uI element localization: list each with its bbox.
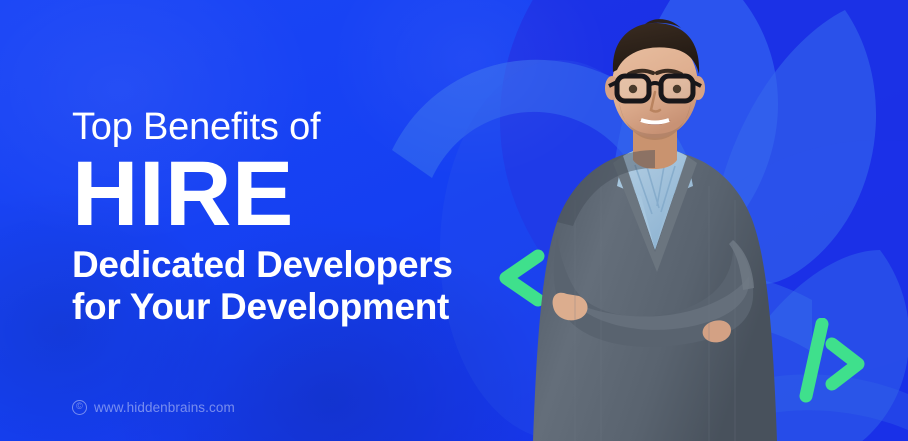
website-url: www.hiddenbrains.com [94, 400, 235, 415]
marketing-banner: Top Benefits of HIRE Dedicated Developer… [0, 0, 908, 441]
kicker-text: Top Benefits of [72, 108, 502, 148]
subheadline-block: Dedicated Developers for Your Developmen… [72, 244, 502, 328]
photo-businessman [505, 0, 805, 441]
page-title: HIRE [72, 150, 502, 238]
footer-watermark: © www.hiddenbrains.com [72, 400, 235, 415]
headline-block: Top Benefits of HIRE Dedicated Developer… [72, 108, 502, 329]
subheadline-line-2: for Your Development [72, 286, 502, 328]
copyright-icon: © [72, 400, 87, 415]
subheadline-line-1: Dedicated Developers [72, 244, 502, 286]
